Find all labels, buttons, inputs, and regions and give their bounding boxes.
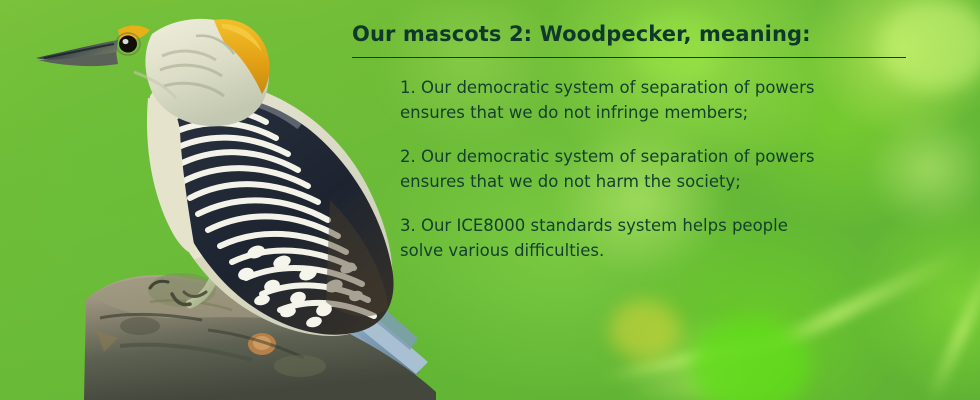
text-block: Our mascots 2: Woodpecker, meaning: 1. O… xyxy=(352,22,927,263)
point-line: 1. Our democratic system of separation o… xyxy=(400,75,927,100)
eye xyxy=(119,36,137,53)
list-item: 1. Our democratic system of separation o… xyxy=(400,75,927,125)
mascot-banner: Our mascots 2: Woodpecker, meaning: 1. O… xyxy=(0,0,980,400)
point-line: ensures that we do not infringe members; xyxy=(400,100,927,125)
points-list: 1. Our democratic system of separation o… xyxy=(352,75,927,263)
list-item: 3. Our ICE8000 standards system helps pe… xyxy=(400,213,927,263)
leaf-bokeh-blob xyxy=(610,300,680,360)
list-item: 2. Our democratic system of separation o… xyxy=(400,144,927,194)
point-line: solve various difficulties. xyxy=(400,238,927,263)
banner-title: Our mascots 2: Woodpecker, meaning: xyxy=(352,22,927,46)
point-line: 3. Our ICE8000 standards system helps pe… xyxy=(400,213,927,238)
title-divider xyxy=(352,57,906,58)
point-line: ensures that we do not harm the society; xyxy=(400,169,927,194)
point-line: 2. Our democratic system of separation o… xyxy=(400,144,927,169)
